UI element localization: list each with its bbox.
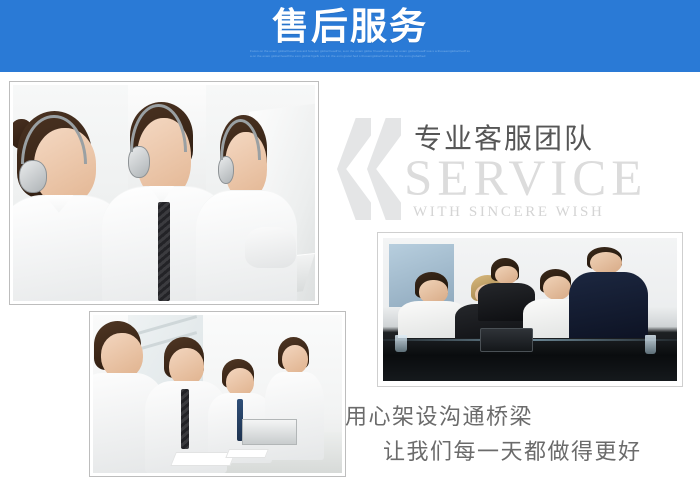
laptop (242, 419, 297, 444)
water-glass (395, 335, 407, 352)
agent-back (203, 115, 294, 301)
paper-sheet (226, 449, 270, 458)
person-center-right (213, 359, 268, 463)
water-glass (645, 335, 657, 354)
tagline-line-1: 用心架设沟通桥梁 (345, 405, 533, 430)
page-title: 售后服务 (0, 6, 700, 48)
photo-bright-meeting (89, 311, 346, 477)
chevron-left-icon (337, 118, 371, 220)
person-left (407, 272, 460, 346)
person-standing-right (574, 247, 639, 350)
header-subtext: Focus on the exam global headf sua ard f… (250, 49, 470, 64)
header-bar: 售后服务 Focus on the exam global headf sua … (0, 0, 700, 72)
laptop (480, 328, 533, 352)
service-subtitle: WITH SINCERE WISH (413, 204, 604, 221)
after-sales-service-banner: 售后服务 Focus on the exam global headf sua … (0, 0, 700, 494)
photo-call-center-agents (9, 81, 319, 305)
photo-dark-meeting (377, 232, 683, 387)
tagline-line-2: 让我们每一天都做得更好 (345, 435, 695, 470)
chevron-left-icon (367, 118, 401, 220)
service-wordmark: SERVICE (404, 152, 647, 206)
tagline-block: 用心架设沟通桥梁 让我们每一天都做得更好 (345, 400, 695, 470)
